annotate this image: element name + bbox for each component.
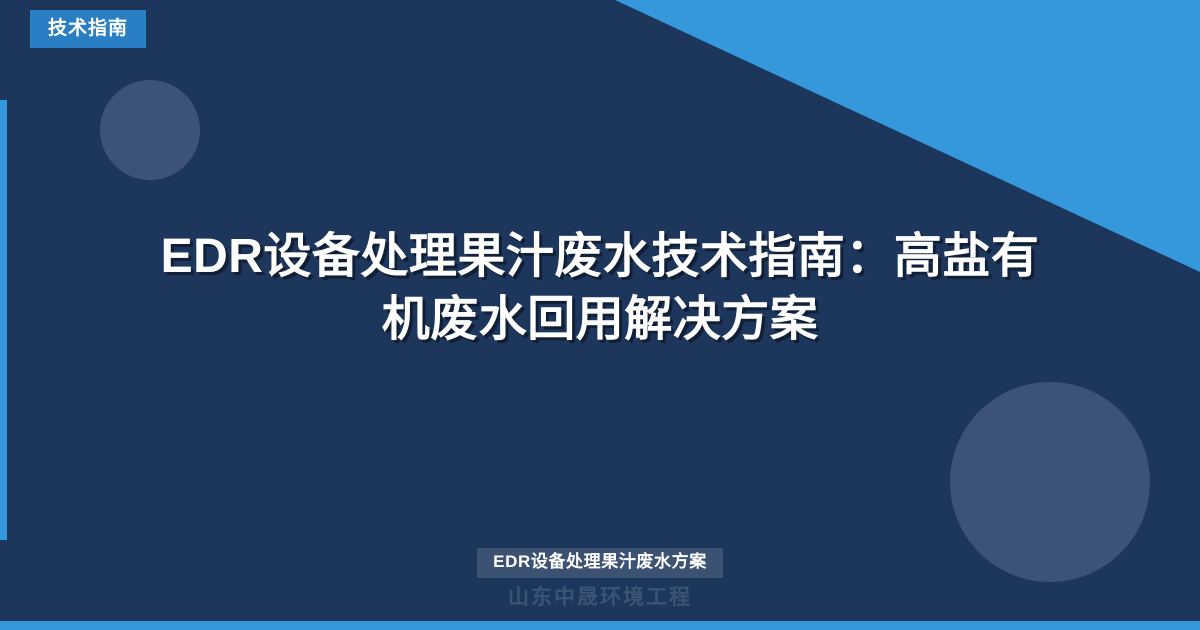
decorative-circle-top-left [100, 80, 200, 180]
brand-name: 山东中晟环境工程 [0, 585, 1200, 610]
poster-canvas: 技术指南 EDR设备处理果汁废水技术指南：高盐有机废水回用解决方案 EDR设备处… [0, 0, 1200, 630]
bottom-accent-bar [0, 621, 1200, 630]
category-badge: 技术指南 [30, 10, 146, 48]
source-tag: EDR设备处理果汁废水方案 [477, 548, 723, 578]
footer-block: EDR设备处理果汁废水方案 山东中晟环境工程 [0, 548, 1200, 610]
page-title: EDR设备处理果汁废水技术指南：高盐有机废水回用解决方案 [160, 225, 1040, 352]
title-container: EDR设备处理果汁废水技术指南：高盐有机废水回用解决方案 [0, 225, 1200, 352]
